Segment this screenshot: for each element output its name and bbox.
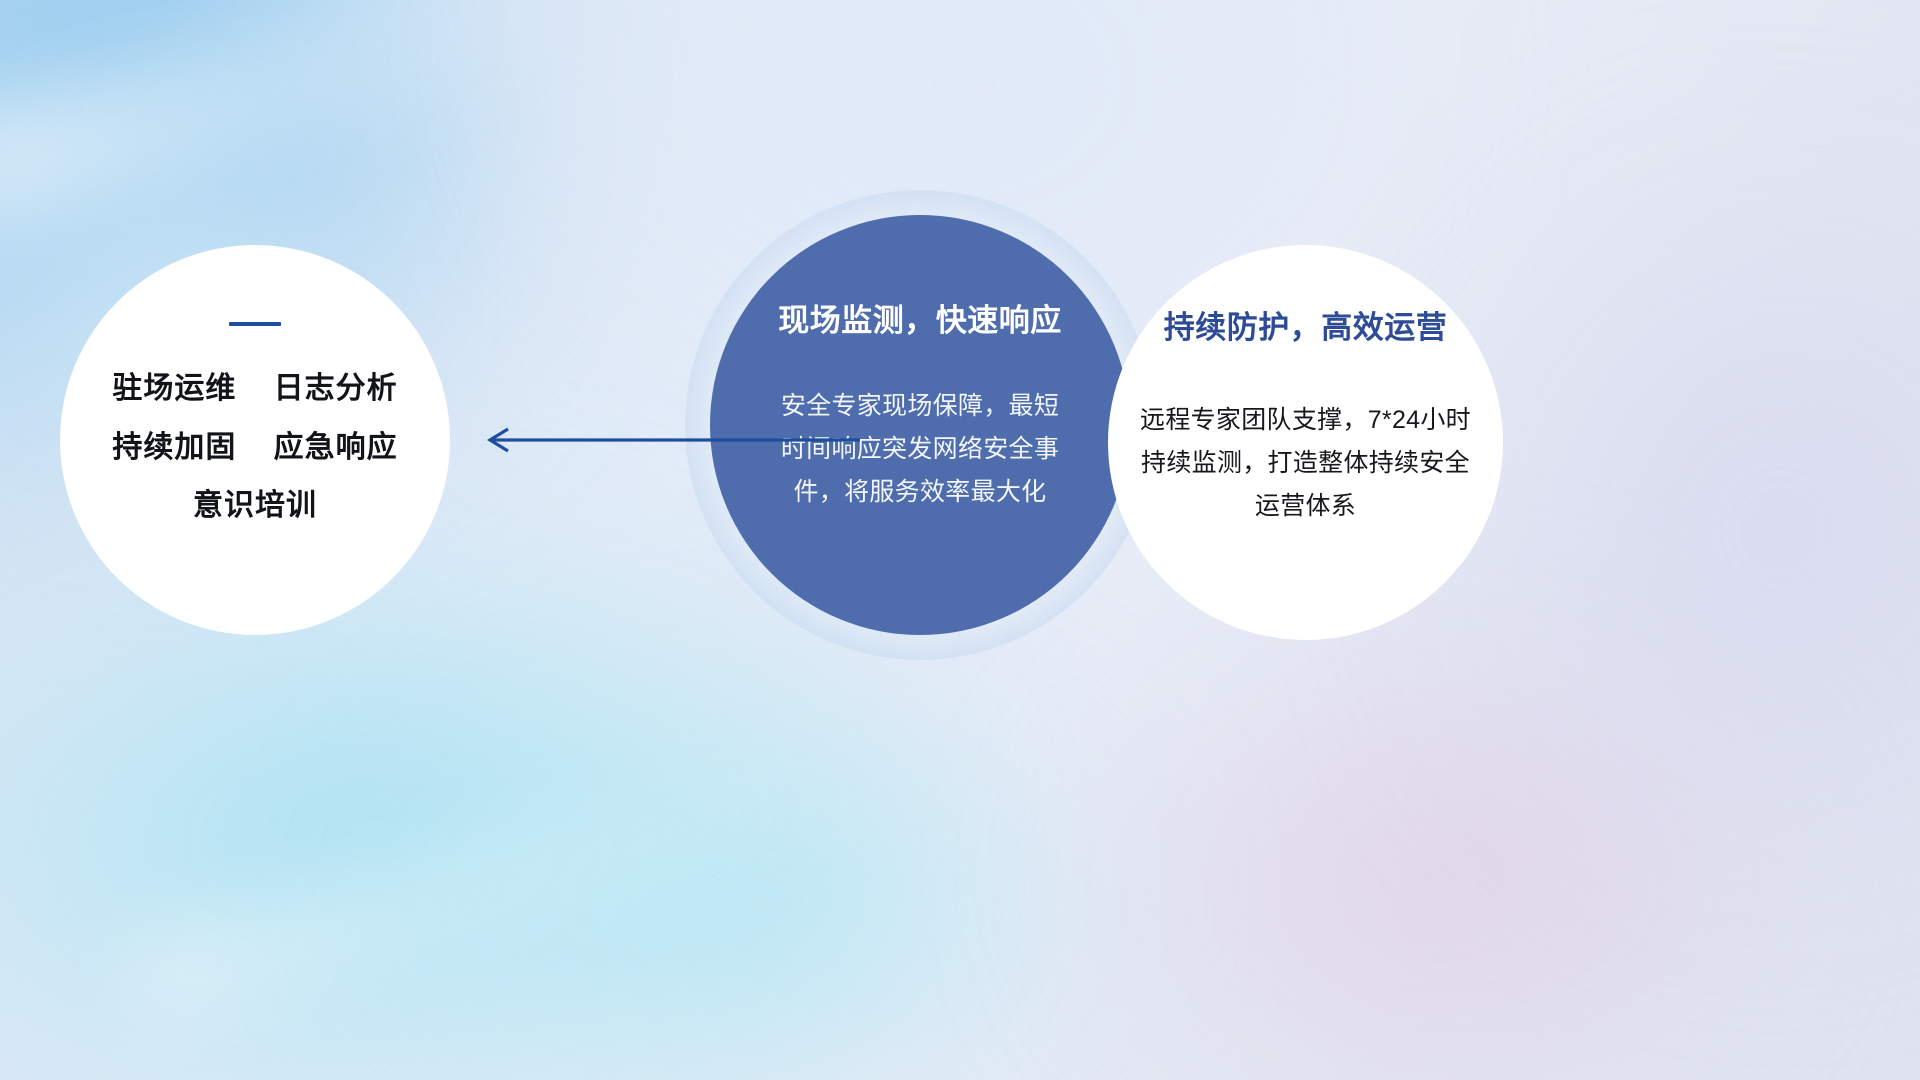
- left-circle-keyword-list: 驻场运维 日志分析 持续加固 应急响应 意识培训: [112, 360, 397, 536]
- left-capability-circle[interactable]: 驻场运维 日志分析 持续加固 应急响应 意识培训: [60, 245, 450, 635]
- left-circle-keyword-line: 持续加固 应急响应: [112, 419, 397, 478]
- left-circle-keyword-line: 意识培训: [112, 477, 397, 536]
- right-circle-title: 持续防护，高效运营: [1164, 302, 1448, 347]
- right-circle-description: 远程专家团队支撑，7*24小时持续监测，打造整体持续安全运营体系: [1133, 399, 1478, 528]
- slide-canvas: 驻场运维 日志分析 持续加固 应急响应 意识培训 现场监测，快速响应 安全专家现…: [0, 0, 1920, 1080]
- left-circle-keyword-line: 驻场运维 日志分析: [112, 360, 397, 419]
- horizontal-rule-divider-icon: [229, 322, 281, 326]
- arrow-left-icon: [470, 405, 870, 475]
- right-continuous-protection-circle[interactable]: 持续防护，高效运营 远程专家团队支撑，7*24小时持续监测，打造整体持续安全运营…: [1108, 245, 1503, 640]
- middle-circle-title: 现场监测，快速响应: [778, 295, 1062, 340]
